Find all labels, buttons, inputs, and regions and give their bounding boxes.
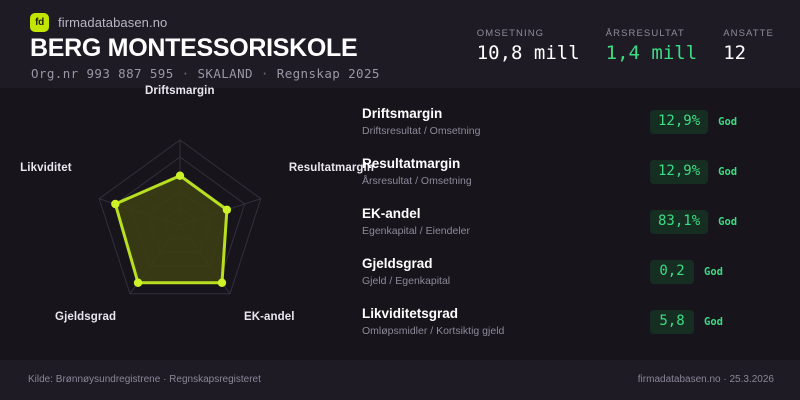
status-badge: God	[718, 116, 737, 128]
metric-formula: Omløpsmidler / Kortsiktig gjeld	[362, 325, 650, 338]
company-report-card: fd firmadatabasen.no BERG MONTESSORISKOL…	[0, 0, 800, 400]
metric-text: Resultatmargin Årsresultat / Omsetning	[362, 156, 650, 187]
brand[interactable]: fd firmadatabasen.no	[30, 13, 167, 32]
metric-right: 12,9% God	[650, 160, 782, 184]
metric-right: 12,9% God	[650, 110, 782, 134]
footer-source: Kilde: Brønnøysundregistrene · Regnskaps…	[28, 374, 261, 385]
metric-name: EK-andel	[362, 206, 650, 223]
company-location: SKALAND	[197, 66, 252, 81]
stat-label: OMSETNING	[477, 28, 580, 39]
status-badge: God	[704, 266, 723, 278]
metric-row-ek-andel: EK-andel Egenkapital / Eiendeler 83,1% G…	[362, 202, 782, 242]
radar-axis-label-ek-andel: EK-andel	[244, 311, 295, 323]
meta-separator-2: ·	[261, 66, 269, 81]
radar-axis-label-likviditet: Likviditet	[20, 162, 71, 174]
page-title: BERG MONTESSORISKOLE	[30, 34, 357, 63]
metric-text: Gjeldsgrad Gjeld / Egenkapital	[362, 256, 650, 287]
header-stats: OMSETNING 10,8 mill ÅRSRESULTAT 1,4 mill…	[477, 28, 774, 63]
radar-axis-label-gjeldsgrad: Gjeldsgrad	[55, 311, 116, 323]
company-orgnr: Org.nr 993 887 595	[31, 66, 174, 81]
radar-chart: Driftsmargin Resultatmargin EK-andel Gje…	[0, 88, 355, 360]
stat-value: 10,8 mill	[477, 44, 580, 63]
metric-text: Driftsmargin Driftsresultat / Omsetning	[362, 106, 650, 137]
metric-formula: Årsresultat / Omsetning	[362, 175, 650, 188]
stat-arsresultat: ÅRSRESULTAT 1,4 mill	[606, 28, 698, 63]
metric-right: 0,2 God	[650, 260, 782, 284]
metric-right: 5,8 God	[650, 310, 782, 334]
metric-name: Gjeldsgrad	[362, 256, 650, 273]
metrics-list: Driftsmargin Driftsresultat / Omsetning …	[362, 102, 782, 352]
metric-right: 83,1% God	[650, 210, 782, 234]
stat-omsetning: OMSETNING 10,8 mill	[477, 28, 580, 63]
meta-separator-1: ·	[182, 66, 190, 81]
company-fiscal-year: Regnskap 2025	[277, 66, 380, 81]
stat-value: 1,4 mill	[606, 44, 698, 63]
footer-bar: Kilde: Brønnøysundregistrene · Regnskaps…	[0, 360, 800, 400]
metric-formula: Egenkapital / Eiendeler	[362, 225, 650, 238]
status-badge: God	[718, 216, 737, 228]
main-content: Driftsmargin Resultatmargin EK-andel Gje…	[0, 88, 800, 360]
metric-row-driftsmargin: Driftsmargin Driftsresultat / Omsetning …	[362, 102, 782, 142]
metric-formula: Driftsresultat / Omsetning	[362, 125, 650, 138]
company-meta: Org.nr 993 887 595 · SKALAND · Regnskap …	[31, 66, 380, 81]
metric-value-badge: 83,1%	[650, 210, 708, 234]
metric-value-badge: 5,8	[650, 310, 694, 334]
metric-value-badge: 12,9%	[650, 160, 708, 184]
stat-label: ÅRSRESULTAT	[606, 28, 698, 39]
header-bar: fd firmadatabasen.no BERG MONTESSORISKOL…	[0, 0, 800, 88]
metric-name: Driftsmargin	[362, 106, 650, 123]
firmadatabasen-logo-icon: fd	[30, 13, 49, 32]
stat-ansatte: ANSATTE 12	[723, 28, 774, 63]
status-badge: God	[704, 316, 723, 328]
metric-name: Likviditetsgrad	[362, 306, 650, 323]
metric-row-likviditetsgrad: Likviditetsgrad Omløpsmidler / Kortsikti…	[362, 302, 782, 342]
metric-name: Resultatmargin	[362, 156, 650, 173]
radar-chart-svg	[0, 88, 355, 360]
metric-formula: Gjeld / Egenkapital	[362, 275, 650, 288]
metric-row-gjeldsgrad: Gjeldsgrad Gjeld / Egenkapital 0,2 God	[362, 252, 782, 292]
metric-value-badge: 12,9%	[650, 110, 708, 134]
radar-axis-label-driftsmargin: Driftsmargin	[145, 85, 215, 97]
stat-value: 12	[723, 44, 774, 63]
metric-text: Likviditetsgrad Omløpsmidler / Kortsikti…	[362, 306, 650, 337]
metric-text: EK-andel Egenkapital / Eiendeler	[362, 206, 650, 237]
footer-attribution: firmadatabasen.no · 25.3.2026	[638, 374, 774, 385]
metric-row-resultatmargin: Resultatmargin Årsresultat / Omsetning 1…	[362, 152, 782, 192]
status-badge: God	[718, 166, 737, 178]
stat-label: ANSATTE	[723, 28, 774, 39]
brand-name: firmadatabasen.no	[58, 15, 167, 30]
metric-value-badge: 0,2	[650, 260, 694, 284]
